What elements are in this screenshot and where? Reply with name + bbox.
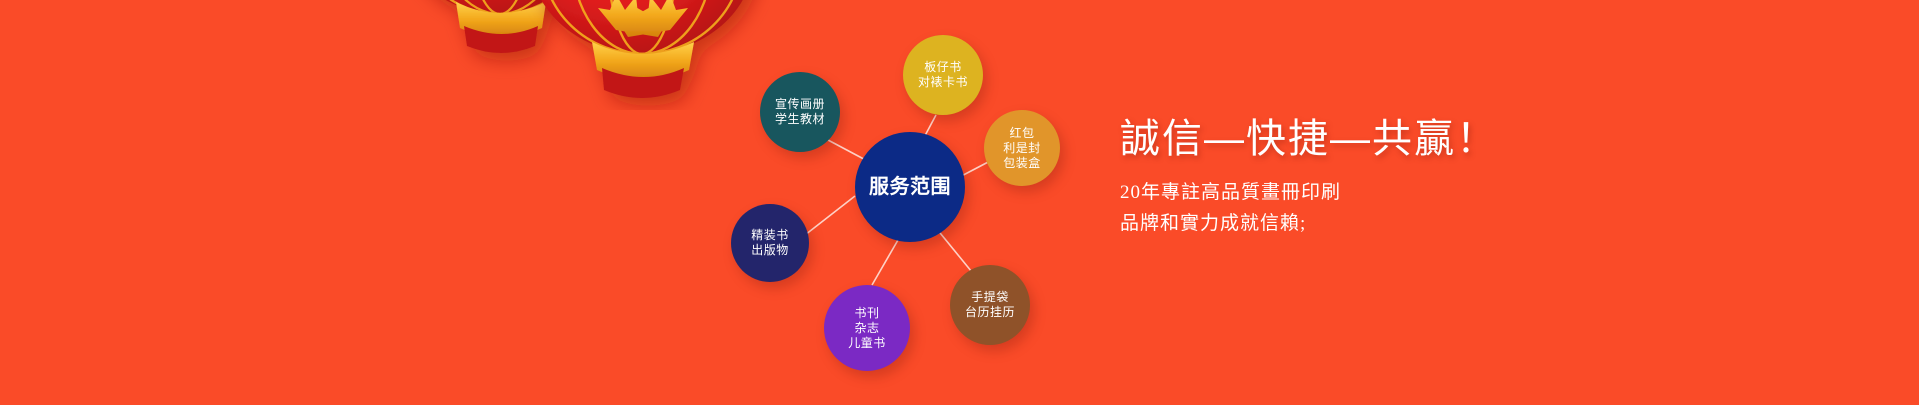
slogan-title: 誠信—快捷—共贏！	[1120, 115, 1498, 163]
bubble-node-teal[interactable]: 宣传画册 学生教材	[760, 72, 840, 152]
bubble-node-brown[interactable]: 手提袋 台历挂历	[950, 265, 1030, 345]
bubble-node-purple-label: 书刊 杂志 儿童书	[848, 306, 886, 351]
slogan-subtitle: 20年專註高品質畫冊印刷 品牌和實力成就信賴;	[1120, 177, 1498, 240]
bubble-node-yellow[interactable]: 板仔书 对裱卡书	[903, 35, 983, 115]
bubble-node-yellow-label: 板仔书 对裱卡书	[918, 60, 968, 90]
bubble-node-teal-label: 宣传画册 学生教材	[775, 97, 825, 127]
bubble-node-orange-label: 红包 利是封 包装盒	[1003, 126, 1041, 171]
bubble-node-brown-label: 手提袋 台历挂历	[965, 290, 1015, 320]
bubble-node-purple[interactable]: 书刊 杂志 儿童书	[824, 285, 910, 371]
slogan-subtitle-line-1: 20年專註高品質畫冊印刷	[1120, 177, 1498, 208]
service-scope-diagram: 服务范围 宣传画册 学生教材 板仔书 对裱卡书 红包 利是封 包装盒 手提袋 台…	[0, 0, 1100, 405]
bubble-node-navy[interactable]: 精装书 出版物	[731, 204, 809, 282]
slogan-subtitle-line-2: 品牌和實力成就信賴;	[1120, 208, 1498, 239]
bubble-center-service-scope[interactable]: 服务范围	[855, 132, 965, 242]
bubble-node-navy-label: 精装书 出版物	[751, 228, 789, 258]
promo-banner: 服务范围 宣传画册 学生教材 板仔书 对裱卡书 红包 利是封 包装盒 手提袋 台…	[0, 0, 1919, 405]
slogan-block: 誠信—快捷—共贏！ 20年專註高品質畫冊印刷 品牌和實力成就信賴;	[1120, 115, 1498, 240]
bubble-center-label: 服务范围	[869, 175, 951, 200]
bubble-node-orange[interactable]: 红包 利是封 包装盒	[984, 110, 1060, 186]
